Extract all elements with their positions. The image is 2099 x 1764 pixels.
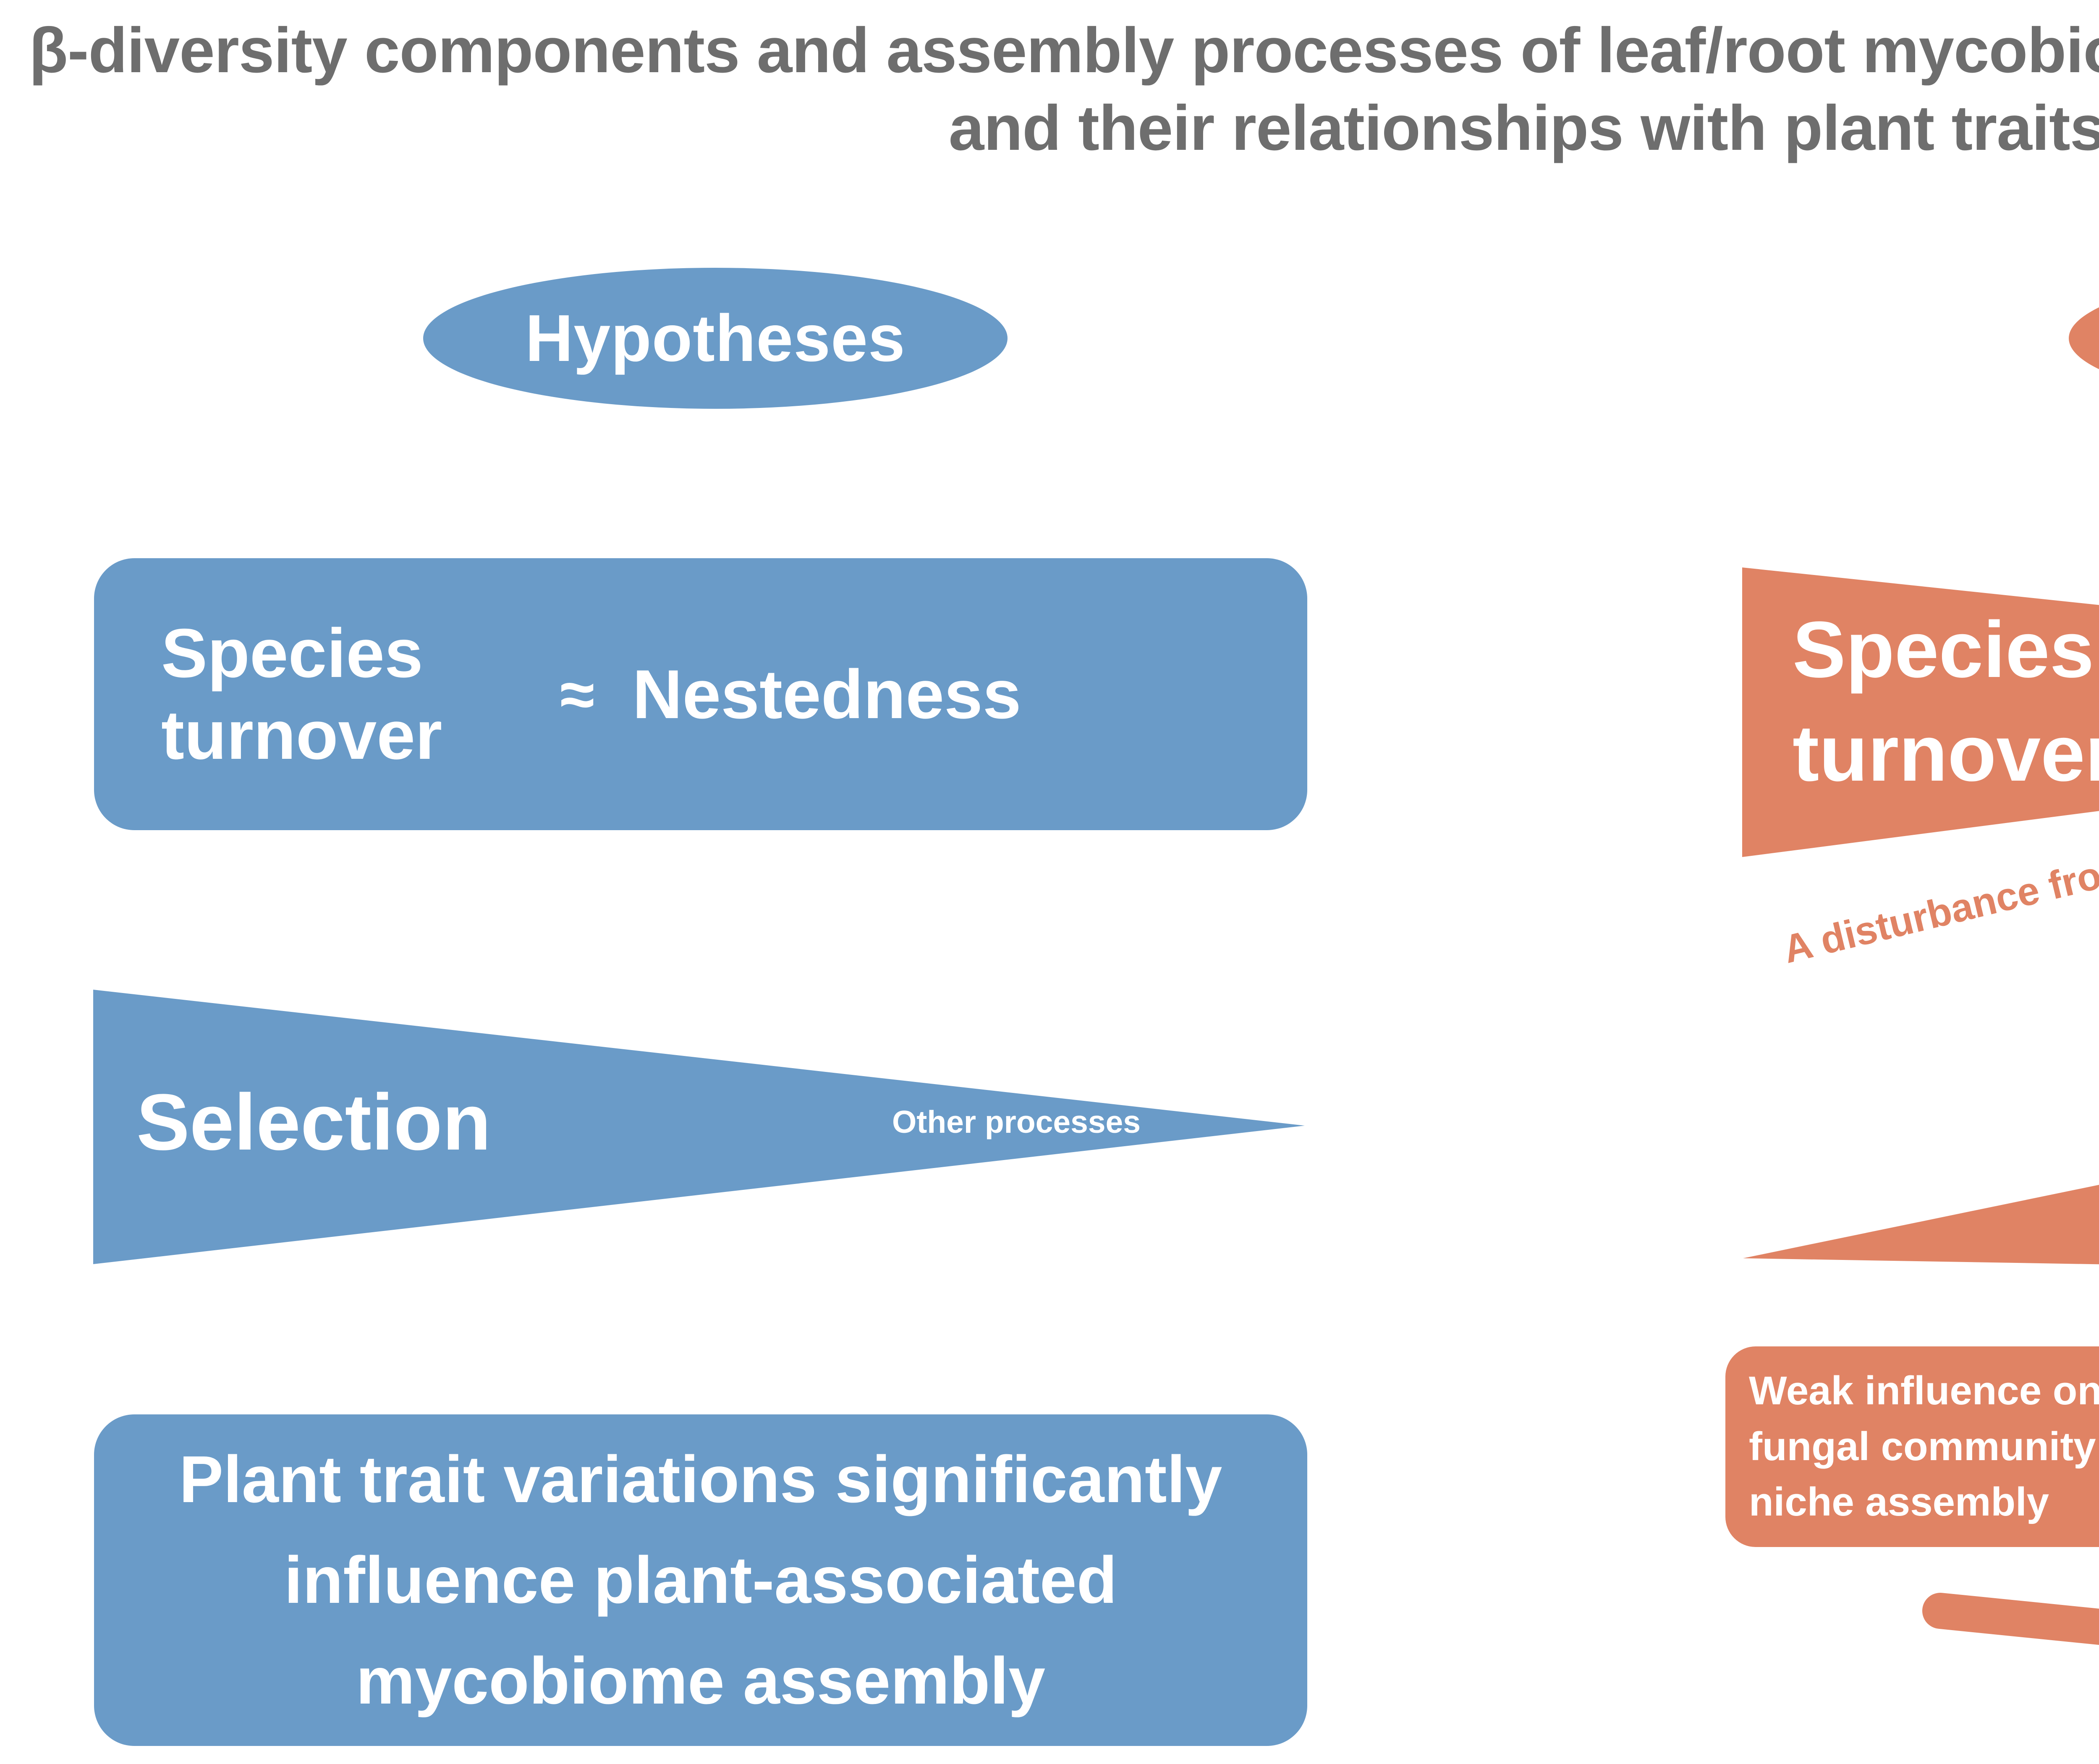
hypotheses-species-turnover-label: Species turnover [161, 612, 522, 776]
findings-weak-influence-box: Weak influence on fungal community niche… [1725, 1346, 2099, 1547]
findings-species-turnover-label: Species turnover [1793, 598, 2099, 805]
hypotheses-plant-trait-statement-text: Plant trait variations significantly inf… [140, 1429, 1261, 1731]
findings-selection-label: Selection [1874, 1108, 2020, 1146]
hypotheses-selection-label: Selection [136, 1077, 491, 1168]
hypotheses-plant-trait-statement-box: Plant trait variations significantly inf… [94, 1414, 1307, 1746]
seesaw-beam [1940, 1611, 2099, 1693]
hypotheses-other-processes-label: Other processes [892, 1104, 1141, 1140]
findings-weak-influence-text: Weak influence on fungal community niche… [1749, 1363, 2099, 1530]
hypotheses-turnover-nestedness-box: Species turnover ≈ Nestedness [94, 558, 1307, 830]
hypotheses-header-label: Hypotheses [525, 301, 906, 376]
approximately-equal-icon: ≈ [560, 663, 594, 726]
hypotheses-nestedness-label: Nestedness [632, 660, 1021, 729]
hypotheses-header-ellipse: Hypotheses [423, 268, 1008, 409]
